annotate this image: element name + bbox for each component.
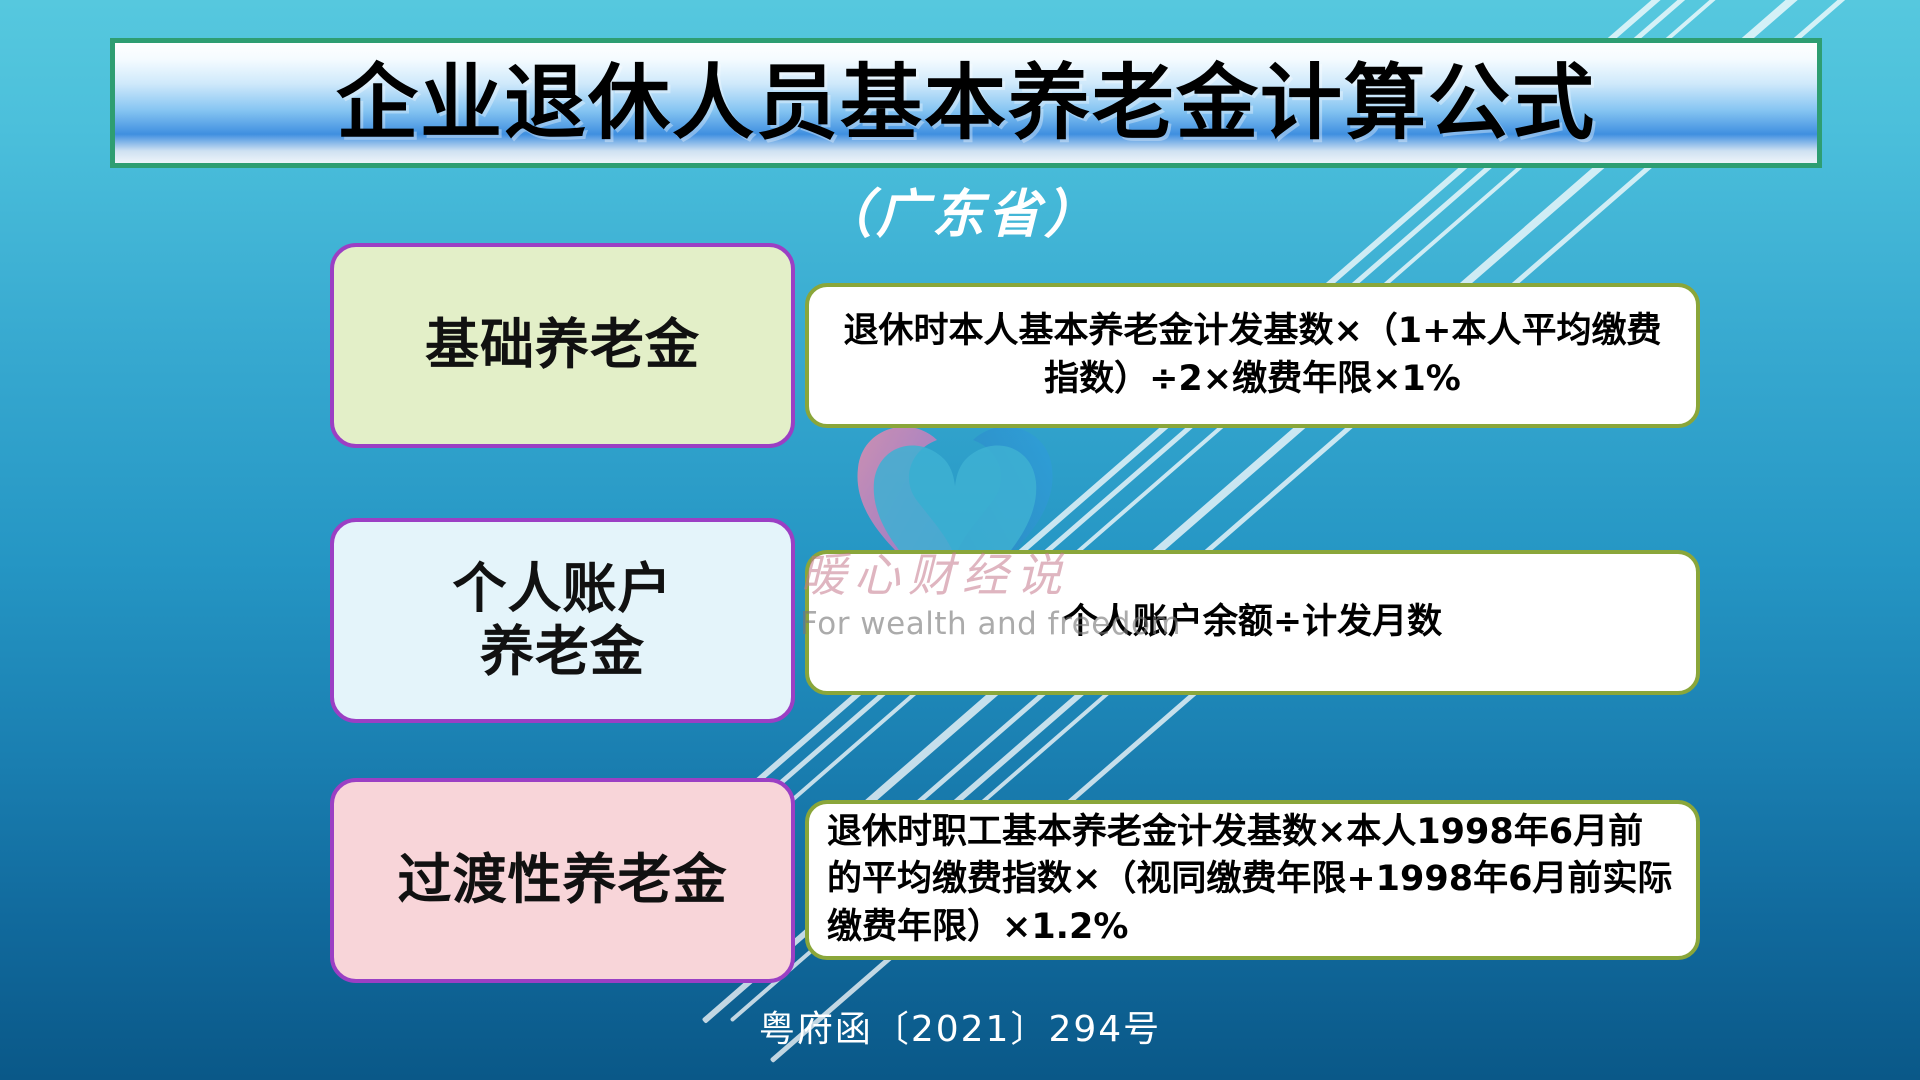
footer-document-number: 粤府函〔2021〕294号 xyxy=(0,1000,1920,1052)
label-basic-pension: 基础养老金 xyxy=(425,314,700,377)
label-box-transitional-pension: 过渡性养老金 xyxy=(330,778,795,983)
label-transitional-pension: 过渡性养老金 xyxy=(398,849,728,912)
label-box-personal-account-pension: 个人账户 养老金 xyxy=(330,518,795,723)
slide-root: 企业退休人员基本养老金计算公式 （广东省） 基础养老金 退休时本人基本养老金计发… xyxy=(0,0,1920,1080)
formula-box-basic-pension: 退休时本人基本养老金计发基数×（1+本人平均缴费指数）÷2×缴费年限×1% xyxy=(805,283,1700,428)
page-subtitle: （广东省） xyxy=(0,172,1920,247)
formula-basic-pension: 退休时本人基本养老金计发基数×（1+本人平均缴费指数）÷2×缴费年限×1% xyxy=(827,308,1678,403)
formula-box-transitional-pension: 退休时职工基本养老金计发基数×本人1998年6月前的平均缴费指数×（视同缴费年限… xyxy=(805,800,1700,960)
title-banner: 企业退休人员基本养老金计算公式 xyxy=(110,38,1822,168)
formula-box-personal-account-pension: 个人账户余额÷计发月数 xyxy=(805,550,1700,695)
page-title: 企业退休人员基本养老金计算公式 xyxy=(336,62,1596,144)
formula-transitional-pension: 退休时职工基本养老金计发基数×本人1998年6月前的平均缴费指数×（视同缴费年限… xyxy=(827,809,1678,952)
label-box-basic-pension: 基础养老金 xyxy=(330,243,795,448)
label-personal-account-pension: 个人账户 养老金 xyxy=(453,558,673,683)
formula-personal-account-pension: 个人账户余额÷计发月数 xyxy=(827,599,1678,647)
